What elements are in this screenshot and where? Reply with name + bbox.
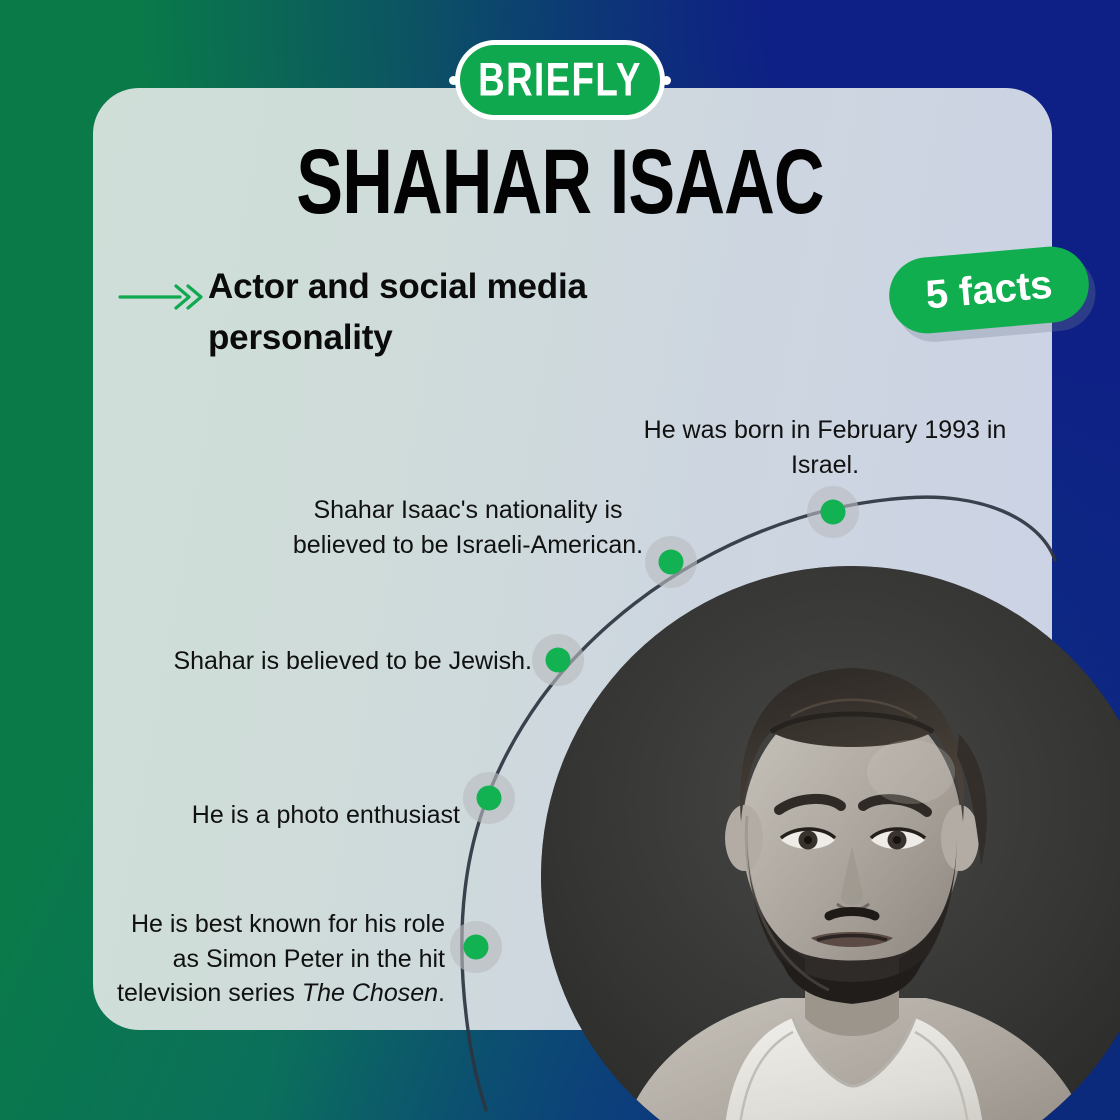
fact-label-5-title: The Chosen [302,979,438,1007]
double-chevron-arrow-right-icon [118,282,208,312]
fact-label-2: Shahar Isaac's nationality is believed t… [288,493,648,562]
briefly-logo-text: BRIEFLY [478,56,642,103]
facts-count-label: 5 facts [924,262,1054,318]
fact-label-3: Shahar is believed to be Jewish. [160,644,532,679]
briefly-logo[interactable]: BRIEFLY [455,40,665,120]
bullet-dot-left-icon [449,76,458,85]
bullet-dot-right-icon [662,76,671,85]
fact-label-5: He is best known for his role as Simon P… [105,907,445,1011]
fact-label-5-part-b: . [438,979,445,1007]
page-title: SHAHAR ISAAC [56,135,1064,227]
subtitle-row: Actor and social media personality [118,262,678,364]
page-subtitle: Actor and social media personality [208,262,678,364]
infographic-canvas: He was born in February 1993 in Israel. … [0,0,1120,1120]
fact-label-1: He was born in February 1993 in Israel. [640,413,1010,482]
fact-label-4: He is a photo enthusiast [160,798,460,833]
